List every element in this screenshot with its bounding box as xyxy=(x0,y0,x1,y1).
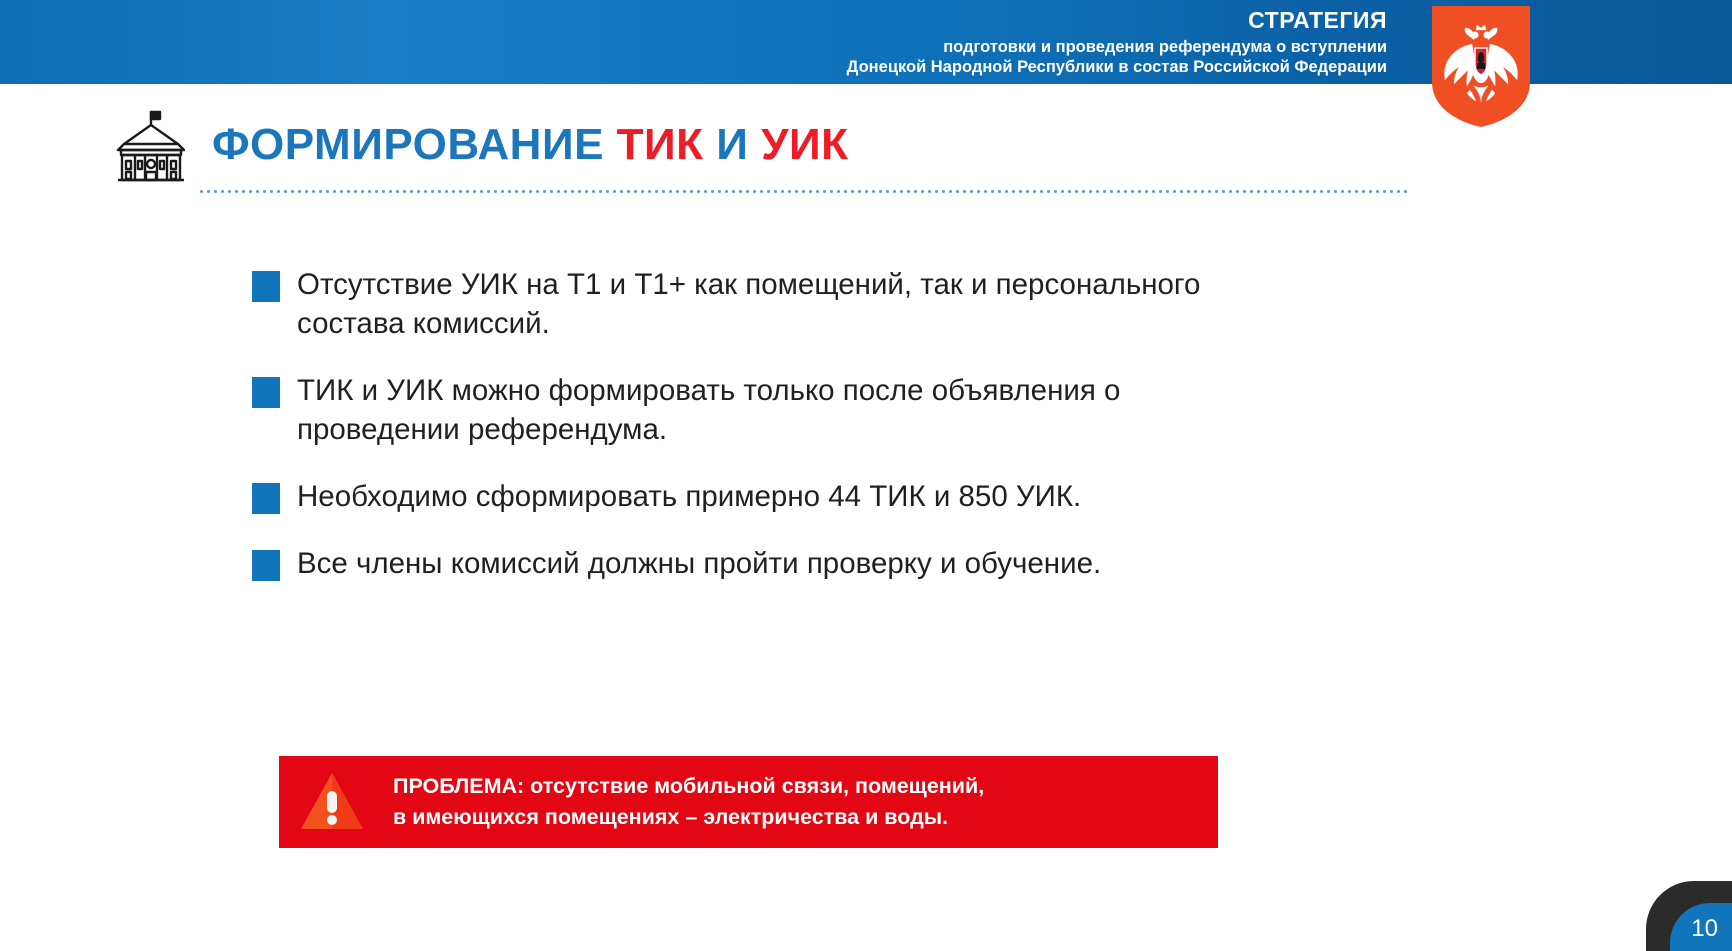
title-part-uik: УИК xyxy=(761,120,848,169)
page-title: ФОРМИРОВАНИЕ ТИК И УИК xyxy=(212,120,848,170)
list-item: Отсутствие УИК на Т1 и Т1+ как помещений… xyxy=(252,266,1252,344)
title-divider xyxy=(198,190,1408,193)
list-item: Необходимо сформировать примерно 44 ТИК … xyxy=(252,478,1252,517)
warning-text-block: ПРОБЛЕМА: отсутствие мобильной связи, по… xyxy=(393,771,984,832)
bullet-square-icon xyxy=(252,377,280,408)
list-item: Все члены комиссий должны пройти проверк… xyxy=(252,545,1252,584)
header-subtitle-line-1: подготовки и проведения референдума о вс… xyxy=(847,37,1387,58)
government-building-icon xyxy=(112,108,190,182)
bullet-square-icon xyxy=(252,271,280,302)
title-part-tik: ТИК xyxy=(617,120,704,169)
list-item-label: ТИК и УИК можно формировать только после… xyxy=(297,372,1252,450)
warning-callout: ПРОБЛЕМА: отсутствие мобильной связи, по… xyxy=(279,756,1218,848)
bullet-square-icon xyxy=(252,483,280,514)
page-number: 10 xyxy=(1691,915,1718,943)
page-number-badge: 10 xyxy=(1640,873,1732,951)
header-title: СТРАТЕГИЯ xyxy=(847,6,1387,35)
warning-triangle-icon xyxy=(299,771,365,833)
bullet-list: Отсутствие УИК на Т1 и Т1+ как помещений… xyxy=(252,266,1252,612)
title-part-formirovanie: ФОРМИРОВАНИЕ xyxy=(212,120,617,169)
header-text-block: СТРАТЕГИЯ подготовки и проведения рефере… xyxy=(847,6,1387,78)
dnr-coat-of-arms-icon xyxy=(1430,4,1532,129)
list-item: ТИК и УИК можно формировать только после… xyxy=(252,372,1252,450)
bullet-square-icon xyxy=(252,550,280,581)
title-part-and: И xyxy=(704,120,762,169)
list-item-label: Необходимо сформировать примерно 44 ТИК … xyxy=(297,478,1081,517)
list-item-label: Отсутствие УИК на Т1 и Т1+ как помещений… xyxy=(297,266,1252,344)
list-item-label: Все члены комиссий должны пройти проверк… xyxy=(297,545,1101,584)
warning-line-2: в имеющихся помещениях – электричества и… xyxy=(393,802,984,833)
warning-line-1: ПРОБЛЕМА: отсутствие мобильной связи, по… xyxy=(393,771,984,802)
slide-title-row: ФОРМИРОВАНИЕ ТИК И УИК xyxy=(112,108,848,182)
header-subtitle-line-2: Донецкой Народной Республики в состав Ро… xyxy=(847,57,1387,78)
